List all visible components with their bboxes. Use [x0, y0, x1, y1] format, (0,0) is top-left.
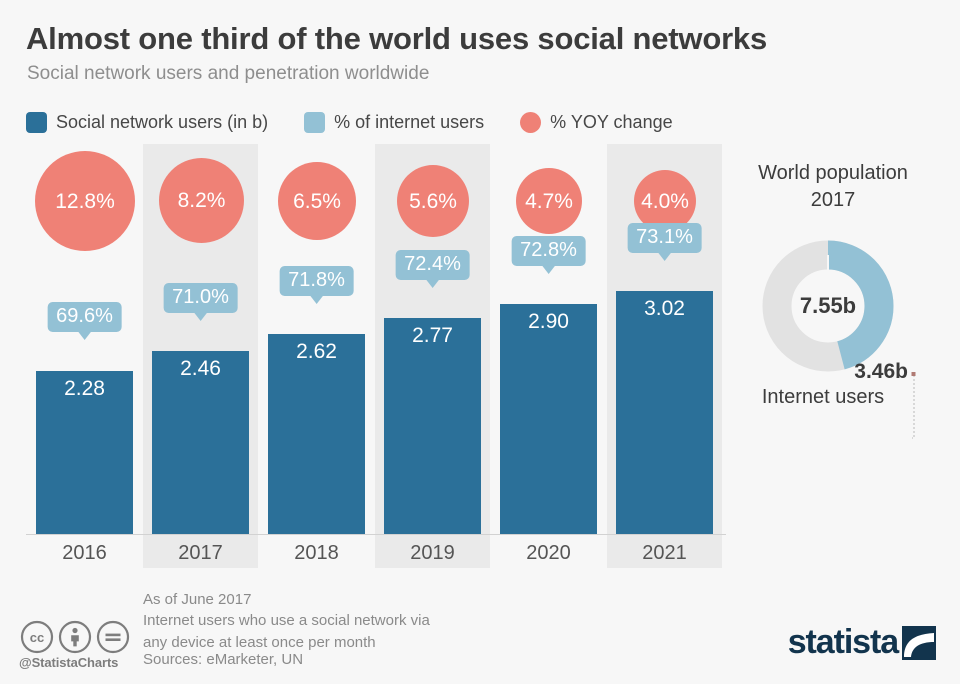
svg-text:cc: cc: [30, 630, 44, 645]
bar-value-label: 2.77: [384, 324, 481, 348]
bar[interactable]: 2.28: [36, 371, 133, 534]
statista-logo[interactable]: statista: [788, 624, 936, 660]
bar-value-label: 2.90: [500, 310, 597, 334]
legend-label: Social network users (in b): [56, 112, 268, 133]
leader-endpoint-marker: [912, 372, 916, 376]
yoy-bubble: 12.8%: [35, 151, 135, 251]
x-axis-label-2019: 2019: [375, 542, 490, 565]
legend-item-internet-users-pct[interactable]: % of internet users: [304, 112, 484, 133]
legend-label: % YOY change: [550, 112, 672, 133]
bar[interactable]: 2.46: [152, 351, 249, 534]
chart-column-2019[interactable]: 5.6% 72.4% 2.77 2019: [375, 144, 490, 568]
x-axis-label-2017: 2017: [143, 542, 258, 565]
yoy-bubble: 8.2%: [159, 158, 244, 243]
footer-note: As of June 2017 Internet users who use a…: [143, 589, 663, 653]
cc-nd-equals-icon: [96, 620, 130, 654]
legend-item-social-network-users[interactable]: Social network users (in b): [26, 112, 268, 133]
chart-column-2021[interactable]: 4.0% 73.1% 3.02 2021: [607, 144, 722, 568]
statista-charts-handle: @StatistaCharts: [19, 655, 118, 670]
x-axis-label-2018: 2018: [259, 542, 374, 565]
yoy-bubble: 4.7%: [516, 168, 582, 234]
legend-swatch-square-icon: [304, 112, 325, 133]
page-subtitle: Social network users and penetration wor…: [27, 63, 907, 86]
legend-swatch-circle-icon: [520, 112, 541, 133]
bar-value-label: 2.28: [36, 377, 133, 401]
statista-logo-mark-icon: [902, 626, 936, 660]
chart-column-2016[interactable]: 12.8% 69.6% 2.28 2016: [27, 144, 142, 568]
footer-sources: Sources: eMarketer, UN: [143, 651, 303, 668]
bar[interactable]: 3.02: [616, 291, 713, 534]
yoy-bubble: 5.6%: [397, 165, 469, 237]
x-axis-label-2016: 2016: [27, 542, 142, 565]
chart-column-2017[interactable]: 8.2% 71.0% 2.46 2017: [143, 144, 258, 568]
creative-commons-icons[interactable]: cc: [20, 620, 130, 654]
callout-value: 3.46b: [728, 360, 908, 384]
footer-note-line3: any device at least once per month: [143, 632, 663, 653]
bar-value-label: 2.46: [152, 357, 249, 381]
bar[interactable]: 2.90: [500, 304, 597, 534]
x-axis-label-2020: 2020: [491, 542, 606, 565]
internet-pct-badge: 71.0%: [163, 283, 238, 313]
internet-pct-badge: 72.4%: [395, 250, 470, 280]
donut-title: World population 2017: [728, 160, 938, 214]
bar-value-label: 3.02: [616, 297, 713, 321]
statista-infographic: Almost one third of the world uses socia…: [0, 0, 960, 684]
yoy-bubble: 6.5%: [278, 162, 356, 240]
internet-pct-badge: 73.1%: [627, 223, 702, 253]
internet-pct-badge: 72.8%: [511, 236, 586, 266]
bar-chart: 12.8% 69.6% 2.28 2016 8.2% 71.0% 2.46 20…: [26, 144, 726, 568]
chart-column-2020[interactable]: 4.7% 72.8% 2.90 2020: [491, 144, 606, 568]
x-axis-label-2021: 2021: [607, 542, 722, 565]
footer-note-line1: As of June 2017: [143, 589, 663, 610]
page-title: Almost one third of the world uses socia…: [26, 22, 906, 56]
cc-by-person-icon: [58, 620, 92, 654]
legend-label: % of internet users: [334, 112, 484, 133]
callout-label: Internet users: [728, 386, 918, 409]
donut-center-value: 7.55b: [762, 240, 894, 372]
statista-logo-text: statista: [788, 625, 898, 659]
legend-item-yoy-change[interactable]: % YOY change: [520, 112, 672, 133]
chart-column-2018[interactable]: 6.5% 71.8% 2.62 2018: [259, 144, 374, 568]
bar-value-label: 2.62: [268, 340, 365, 364]
legend: Social network users (in b) % of interne…: [26, 108, 709, 136]
internet-pct-badge: 71.8%: [279, 266, 354, 296]
legend-swatch-square-icon: [26, 112, 47, 133]
world-population-donut: World population 2017 7.55b 3.46b Intern…: [728, 160, 938, 450]
bar[interactable]: 2.77: [384, 318, 481, 534]
bar[interactable]: 2.62: [268, 334, 365, 534]
footer-note-line2: Internet users who use a social network …: [143, 610, 663, 631]
donut-title-line2: 2017: [728, 187, 938, 214]
cc-icon: cc: [20, 620, 54, 654]
donut-title-line1: World population: [728, 160, 938, 187]
internet-pct-badge: 69.6%: [47, 302, 122, 332]
